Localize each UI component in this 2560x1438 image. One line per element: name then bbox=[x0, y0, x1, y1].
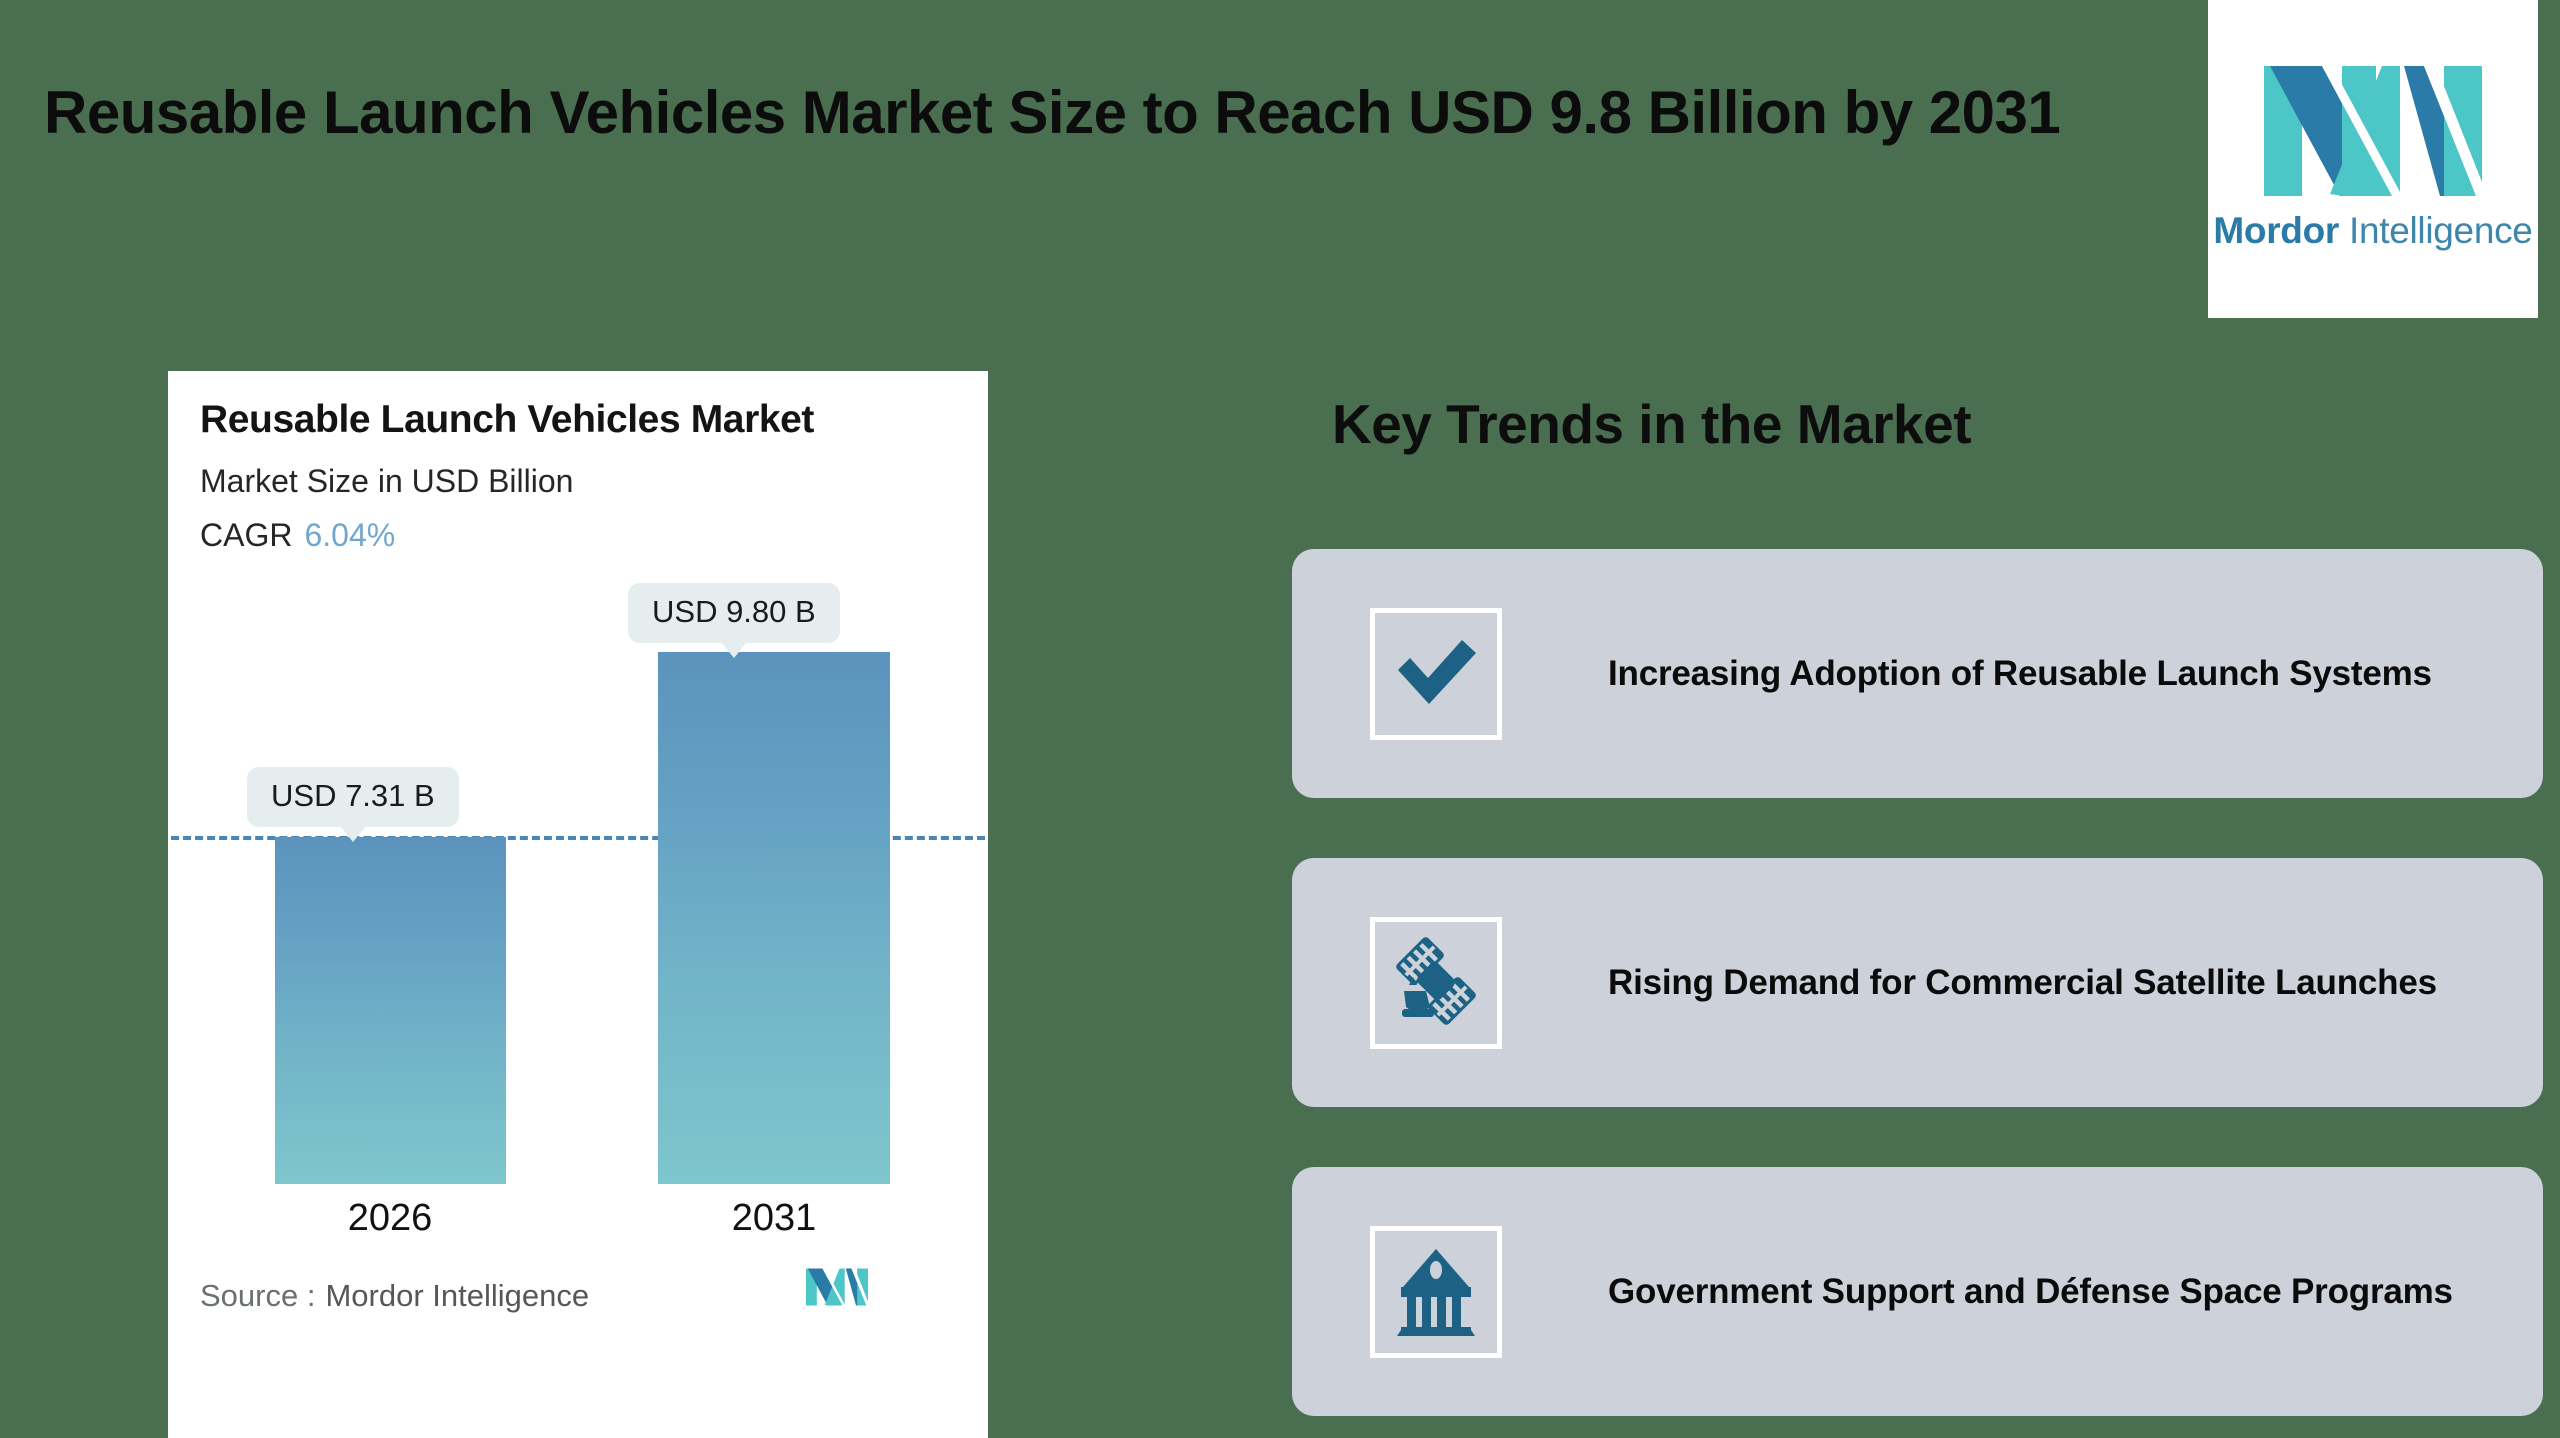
trend-card-2[interactable]: Rising Demand for Commercial Satellite L… bbox=[1292, 858, 2543, 1107]
bar-2031 bbox=[658, 652, 890, 1184]
satellite-icon bbox=[1386, 933, 1486, 1033]
check-icon bbox=[1388, 626, 1484, 722]
brand-name-bold: Mordor bbox=[2213, 210, 2339, 251]
trend-label-1: Increasing Adoption of Reusable Launch S… bbox=[1608, 654, 2432, 694]
brand-name-light: Intelligence bbox=[2349, 210, 2533, 251]
brand-logo-text: Mordor Intelligence bbox=[2213, 210, 2532, 252]
chart-card: Reusable Launch Vehicles Market Market S… bbox=[168, 371, 988, 1438]
x-tick-2031: 2031 bbox=[658, 1197, 890, 1240]
chart-source: Source :Mordor Intelligence bbox=[200, 1278, 589, 1314]
bar-2026 bbox=[275, 837, 506, 1184]
trend-label-2: Rising Demand for Commercial Satellite L… bbox=[1608, 963, 2437, 1003]
trend-label-3: Government Support and Défense Space Pro… bbox=[1608, 1272, 2453, 1312]
mordor-m-mark-small-icon bbox=[806, 1263, 868, 1311]
trend-card-1[interactable]: Increasing Adoption of Reusable Launch S… bbox=[1292, 549, 2543, 798]
check-icon-frame bbox=[1370, 608, 1502, 740]
key-trends-title: Key Trends in the Market bbox=[1332, 392, 1971, 456]
data-label-2026: USD 7.31 B bbox=[247, 767, 459, 827]
government-building-icon-frame bbox=[1370, 1226, 1502, 1358]
page-title: Reusable Launch Vehicles Market Size to … bbox=[44, 78, 2154, 149]
source-name: Mordor Intelligence bbox=[325, 1278, 589, 1313]
x-tick-2026: 2026 bbox=[274, 1197, 506, 1240]
mordor-m-mark-icon bbox=[2264, 66, 2482, 196]
source-label: Source : bbox=[200, 1278, 315, 1313]
government-building-icon bbox=[1387, 1243, 1485, 1341]
trend-card-3[interactable]: Government Support and Défense Space Pro… bbox=[1292, 1167, 2543, 1416]
satellite-icon-frame bbox=[1370, 917, 1502, 1049]
data-label-2031: USD 9.80 B bbox=[628, 583, 840, 643]
brand-logo-card: Mordor Intelligence bbox=[2208, 0, 2538, 318]
